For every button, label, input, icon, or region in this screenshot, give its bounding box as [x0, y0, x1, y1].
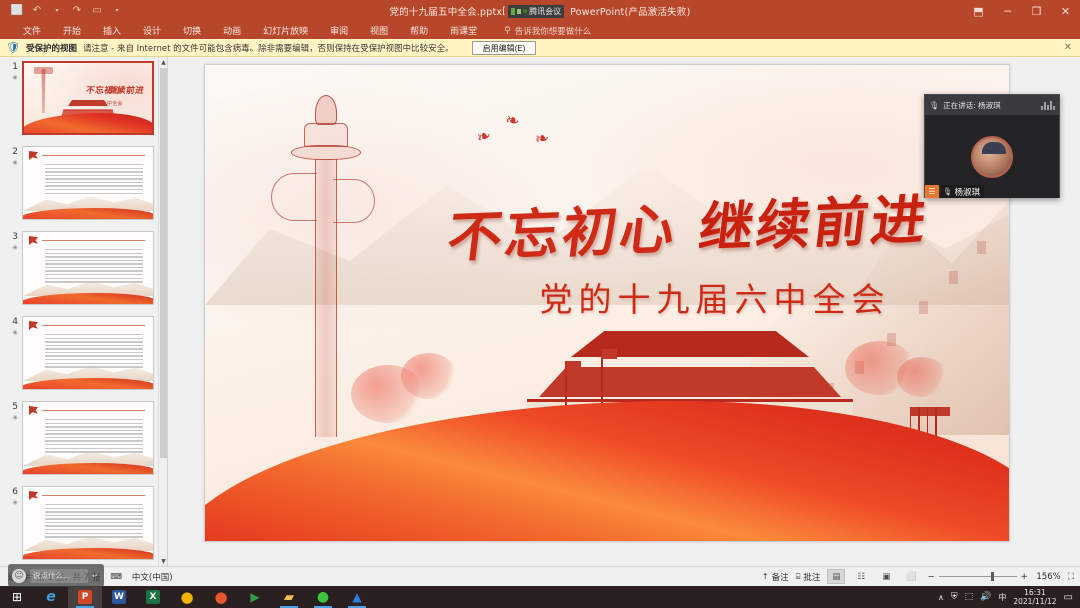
system-tray: ∧ ⛨ ⬚ 🔊 中 16:31 2021/11/12 ▭ [938, 588, 1080, 606]
mini-text-lines [45, 249, 143, 285]
zoom-percent-label[interactable]: 156% [1035, 572, 1061, 582]
tab-insert[interactable]: 插入 [92, 22, 132, 39]
thumbnail-number: 1 ✳ [4, 61, 22, 135]
tell-me-label: 告诉我你想要做什么 [515, 25, 592, 37]
overlay-badge-label: 腾讯会议 [529, 6, 561, 17]
slideshow-view-button[interactable]: ⬜ [902, 569, 920, 584]
party-emblem-icon [29, 151, 38, 160]
chat-input[interactable]: 说点什么... [30, 569, 88, 583]
cloud-motif-2 [401, 353, 457, 399]
pillar-cloud-wing-right [333, 179, 375, 223]
flag-center [602, 349, 617, 359]
notes-icon: ↑ [762, 572, 769, 581]
windows-logo-icon: ⊞ [12, 590, 22, 604]
clock[interactable]: 16:31 2021/11/12 [1013, 588, 1056, 606]
animation-star-icon: ✳ [4, 328, 18, 339]
animation-star-icon: ✳ [4, 413, 18, 424]
participant-name-bar: ☰ 🎙 杨淑琪 [925, 185, 984, 198]
word-icon[interactable]: W [102, 586, 136, 608]
folder-glyph: ▰ [284, 590, 294, 605]
chrome-canary-glyph: ● [214, 588, 227, 606]
thumbnail-slide-1[interactable]: 1 ✳ 不忘初心 继续前进 党的十九届六中全会 [0, 58, 167, 135]
slide-thumbnail-pane[interactable]: 1 ✳ 不忘初心 继续前进 党的十九届六中全会 [0, 57, 168, 566]
comment-icon: ⌸ [796, 572, 801, 582]
protected-view-bar: 🛡 受保护的视图 请注意 - 来自 Internet 的文件可能包含病毒。除非需… [0, 39, 1080, 57]
dove-icon-3: ❧ [534, 130, 550, 149]
tab-transitions[interactable]: 切换 [172, 22, 212, 39]
flag-left [566, 361, 581, 371]
security-icon[interactable]: ⛨ [951, 592, 958, 602]
ribbon-tab-bar: 文件 开始 插入 设计 切换 动画 幻灯片放映 审阅 视图 帮助 雨课堂 ⚲ 告… [0, 22, 1080, 39]
thumbnail-image[interactable] [22, 146, 154, 220]
shield-icon: 🛡 [6, 42, 20, 53]
audio-wave-icon [1041, 101, 1055, 110]
thumbnail-number-label: 4 [12, 317, 18, 327]
scrollbar-thumb[interactable] [160, 68, 167, 458]
thumbnail-slide-2[interactable]: 2 ✳ [0, 143, 167, 220]
mini-ribbon-front [22, 113, 154, 135]
party-emblem-icon [29, 321, 38, 330]
mini-gate-roof [68, 100, 108, 106]
mini-slide-art [23, 232, 153, 304]
title-bracket: [ [502, 6, 506, 17]
mini-divider [42, 240, 145, 241]
zoom-slider[interactable]: − + [927, 572, 1027, 582]
thumbnail-number: 2 ✳ [4, 146, 22, 220]
tab-slideshow[interactable]: 幻灯片放映 [252, 22, 319, 39]
show-hidden-icons-button[interactable]: ∧ [938, 593, 944, 602]
mini-text-lines [45, 334, 143, 370]
action-center-button[interactable]: ▭ [1064, 592, 1073, 603]
status-bar: 幻灯片 第 1 张，共 7 张 ⌨ 中文(中国) ↑ 备注 ⌸ 批注 ▤ ☷ ▣… [0, 566, 1080, 586]
mini-text-lines [45, 419, 143, 455]
windows-taskbar: ⊞ e P W X ● ● ▶ ▰ [0, 586, 1080, 608]
scroll-down-icon[interactable]: ▼ [159, 556, 168, 566]
animation-star-icon: ✳ [4, 73, 18, 84]
thumbnail-image[interactable] [22, 486, 154, 560]
save-icon[interactable]: ⬜ [8, 3, 26, 20]
restore-button[interactable]: ❐ [1022, 0, 1051, 22]
comments-label: 批注 [803, 571, 820, 583]
thumbnail-image[interactable]: 不忘初心 继续前进 党的十九届六中全会 [22, 61, 154, 135]
clock-time: 16:31 [1013, 588, 1056, 597]
mini-slide-art [23, 147, 153, 219]
mini-divider [42, 325, 145, 326]
badge-bar-3 [523, 9, 527, 13]
window-title: 党的十九届五中全会.pptx [ 腾讯会议 PowerPoint(产品激活失败) [0, 0, 1080, 22]
slide-canvas[interactable]: ❧ ❧ ❧ 不忘初心 继续前进 党的十九届六中全会 中华人民共和国万岁 世界人民… [204, 64, 1010, 542]
thumbnail-number-label: 1 [12, 62, 18, 72]
wechat-glyph: ● [317, 589, 329, 605]
zoom-in-button[interactable]: + [1021, 572, 1028, 582]
minimize-button[interactable]: ─ [993, 0, 1022, 22]
qat-more-icon[interactable]: ▾ [108, 3, 126, 20]
normal-view-button[interactable]: ▤ [827, 569, 845, 584]
tab-help[interactable]: 帮助 [399, 22, 439, 39]
app-name-suffix: PowerPoint(产品激活失败) [566, 4, 690, 18]
meeting-chat-overlay[interactable]: ☺ 说点什么... ↵ [8, 564, 104, 587]
mini-text-lines [45, 504, 143, 540]
thumbnail-number-label: 6 [12, 487, 18, 497]
thumbnail-slide-4[interactable]: 4 ✳ [0, 313, 167, 390]
slide-subtitle[interactable]: 党的十九届六中全会 [455, 273, 975, 321]
comments-button[interactable]: ⌸ 批注 [796, 571, 821, 583]
send-icon[interactable]: ↵ [92, 572, 100, 580]
title-bar: ⬜ ↶ ▾ ↷ ▭ ▾ 党的十九届五中全会.pptx [ 腾讯会议 PowerP… [0, 0, 1080, 22]
enable-editing-button[interactable]: 启用编辑(E) [472, 41, 537, 55]
thumbnail-number-label: 5 [12, 402, 18, 412]
pillar-cloud-wing-left [271, 173, 317, 221]
participant-name-label: 🎙 杨淑琪 [941, 185, 984, 198]
chrome-canary-icon[interactable]: ● [204, 586, 238, 608]
tencent-meeting-overlay-badge: 腾讯会议 [508, 5, 564, 18]
meeting-float-header[interactable]: 🎙 正在讲话: 杨淑琪 [925, 95, 1059, 115]
start-presentation-icon[interactable]: ▭ [88, 3, 106, 20]
thumbnail-image[interactable] [22, 231, 154, 305]
network-icon[interactable]: ⬚ [965, 592, 974, 602]
file-explorer-icon[interactable]: ▰ [272, 586, 306, 608]
notes-button[interactable]: ↑ 备注 [762, 571, 789, 583]
participant-name: 杨淑琪 [955, 186, 981, 198]
mini-divider [42, 410, 145, 411]
scroll-up-icon[interactable]: ▲ [159, 57, 168, 67]
emoji-icon[interactable]: ☺ [12, 569, 26, 583]
taskbar-icons: ⊞ e P W X ● ● ▶ ▰ [0, 586, 374, 608]
powerpoint-icon[interactable]: P [68, 586, 102, 608]
document-name: 党的十九届五中全会.pptx [390, 4, 503, 18]
badge-bar-1 [511, 8, 515, 15]
mini-slide-art [23, 402, 153, 474]
zoom-out-button[interactable]: − [927, 572, 934, 582]
animation-star-icon: ✳ [4, 158, 18, 169]
reading-view-button[interactable]: ▣ [877, 569, 895, 584]
participant-mic-icon: 🎙 [943, 187, 953, 196]
calligraphy-part-1: 不忘初心 [444, 185, 683, 273]
thumbnail-slide-6[interactable]: 6 ✳ [0, 483, 167, 560]
volume-icon[interactable]: 🔊 [980, 592, 991, 602]
zoom-knob[interactable] [991, 572, 994, 581]
powerpoint-glyph: P [78, 590, 92, 604]
tab-design[interactable]: 设计 [132, 22, 172, 39]
speaking-label: 正在讲话: 杨淑琪 [943, 100, 1000, 111]
thumbnail-image[interactable] [22, 316, 154, 390]
chrome-glyph: ● [180, 588, 193, 606]
mini-slide-art: 不忘初心 继续前进 党的十九届六中全会 [24, 63, 152, 133]
spellcheck-icon: ⌨ [110, 572, 122, 581]
excel-glyph: X [146, 590, 160, 604]
spellcheck-status[interactable]: ⌨ [110, 572, 122, 581]
avatar [971, 136, 1013, 178]
protected-view-message: 请注意 - 来自 Internet 的文件可能包含病毒。除非需要编辑，否则保持在… [83, 42, 454, 54]
edge-icon[interactable]: e [34, 586, 68, 608]
window-controls: ⬒ ─ ❐ ✕ [964, 0, 1080, 22]
tab-animations[interactable]: 动画 [212, 22, 252, 39]
microphone-icon: 🎙 [929, 101, 939, 110]
tell-me-search[interactable]: ⚲ 告诉我你想要做什么 [504, 25, 591, 37]
tencent-meeting-float-window[interactable]: 🎙 正在讲话: 杨淑琪 ☰ 🎙 杨淑琪 [924, 94, 1060, 198]
tab-review[interactable]: 审阅 [319, 22, 359, 39]
party-emblem-icon [29, 491, 38, 500]
notes-label: 备注 [772, 571, 789, 583]
mini-text-lines [45, 164, 143, 196]
mini-divider [42, 155, 145, 156]
party-emblem-icon [29, 236, 38, 245]
party-emblem-icon [29, 406, 38, 415]
status-bar-right: ↑ 备注 ⌸ 批注 ▤ ☷ ▣ ⬜ − + 156% ⛶ [762, 569, 1080, 584]
gate-roof-lower [539, 367, 841, 397]
thumbnail-number-label: 2 [12, 147, 18, 157]
pillar-cap [304, 123, 348, 147]
zoom-track[interactable] [939, 576, 1017, 577]
undo-dropdown-icon[interactable]: ▾ [48, 3, 66, 20]
ime-indicator[interactable]: 中 [998, 592, 1006, 603]
ribbon-display-options-button[interactable]: ⬒ [964, 0, 993, 22]
thumbnail-number: 6 ✳ [4, 486, 22, 560]
mini-divider [42, 495, 145, 496]
excel-icon[interactable]: X [136, 586, 170, 608]
language-label[interactable]: 中文(中国) [132, 571, 173, 583]
meeting-video-area[interactable]: ☰ 🎙 杨淑琪 [925, 115, 1059, 198]
tencent-meeting-icon[interactable]: ▲ [340, 586, 374, 608]
close-icon[interactable]: ✕ [1064, 42, 1074, 53]
tab-view[interactable]: 视图 [359, 22, 399, 39]
mini-pillar [37, 69, 50, 113]
close-button[interactable]: ✕ [1051, 0, 1080, 22]
mini-slide-art [23, 487, 153, 559]
powerpoint-window: ⬜ ↶ ▾ ↷ ▭ ▾ 党的十九届五中全会.pptx [ 腾讯会议 PowerP… [0, 0, 1080, 608]
fit-to-window-button[interactable]: ⛶ [1068, 572, 1074, 582]
protected-view-title: 受保护的视图 [26, 42, 77, 54]
chrome-icon[interactable]: ● [170, 586, 204, 608]
thumbnail-number: 3 ✳ [4, 231, 22, 305]
mini-slide-art [23, 317, 153, 389]
animation-star-icon: ✳ [4, 498, 18, 509]
search-icon: ⚲ [504, 26, 511, 36]
redo-icon[interactable]: ↷ [68, 3, 86, 20]
quick-access-toolbar: ⬜ ↶ ▾ ↷ ▭ ▾ [0, 3, 126, 20]
calligraphy-part-2: 继续前进 [695, 175, 934, 263]
participant-icon: ☰ [925, 185, 939, 198]
badge-bar-2 [517, 9, 521, 14]
thumbnail-scrollbar[interactable]: ▲ ▼ [158, 57, 167, 566]
play-glyph: ▶ [250, 590, 259, 604]
tab-rainclassroom[interactable]: 雨课堂 [439, 22, 488, 39]
word-glyph: W [112, 590, 126, 604]
thumbnail-number-label: 3 [12, 232, 18, 242]
media-player-icon[interactable]: ▶ [238, 586, 272, 608]
tab-file[interactable]: 文件 [12, 22, 52, 39]
thumbnail-slide-3[interactable]: 3 ✳ [0, 228, 167, 305]
slide-sorter-view-button[interactable]: ☷ [852, 569, 870, 584]
meeting-glyph: ▲ [352, 590, 361, 604]
wechat-icon[interactable]: ● [306, 586, 340, 608]
pillar-disc [291, 145, 361, 160]
thumbnail-number: 4 ✳ [4, 316, 22, 390]
edge-glyph: e [46, 589, 56, 605]
mini-calligraphy-2: 继续前进 [101, 84, 151, 98]
cloud-motif-4 [897, 357, 947, 397]
tab-home[interactable]: 开始 [52, 22, 92, 39]
clock-date: 2021/11/12 [1013, 597, 1056, 606]
thumbnail-number: 5 ✳ [4, 401, 22, 475]
thumbnail-image[interactable] [22, 401, 154, 475]
undo-icon[interactable]: ↶ [28, 3, 46, 20]
pillar-shaft [315, 159, 337, 437]
animation-star-icon: ✳ [4, 243, 18, 254]
start-button[interactable]: ⊞ [0, 586, 34, 608]
stone-lion-icon [315, 95, 337, 125]
thumbnail-slide-5[interactable]: 5 ✳ [0, 398, 167, 475]
work-area: 1 ✳ 不忘初心 继续前进 党的十九届六中全会 [0, 57, 1080, 566]
